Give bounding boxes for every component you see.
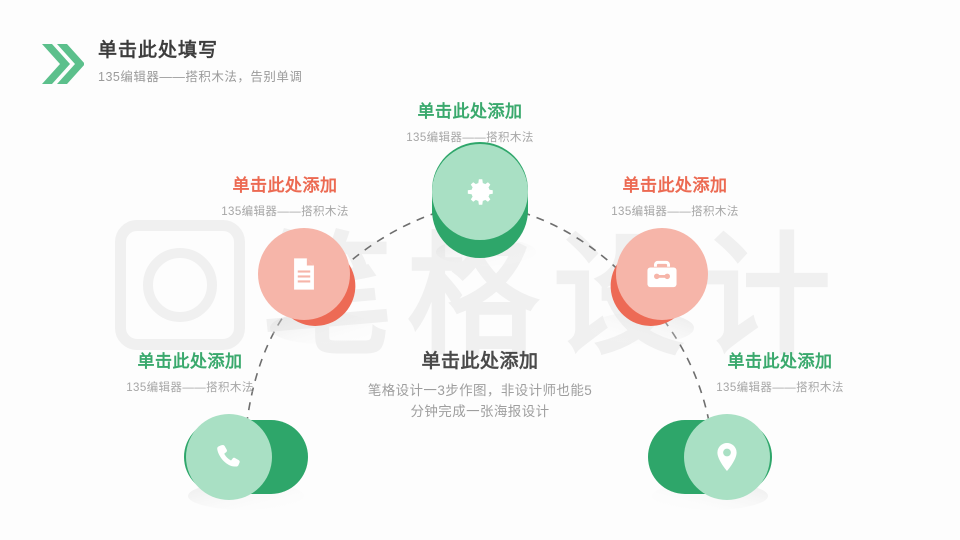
double-chevron-right-icon (40, 41, 84, 87)
label-subtitle: 135编辑器——搭积木法 (360, 128, 580, 148)
page-subtitle: 135编辑器——搭积木法，告别单调 (98, 66, 302, 88)
label-title: 单击此处添加 (690, 350, 870, 374)
label-title: 单击此处添加 (330, 350, 630, 374)
label-node-center-lower: 单击此处添加 笔格设计一3步作图，非设计师也能5 分钟完成一张海报设计 (330, 350, 630, 422)
label-subtitle: 135编辑器——搭积木法 (590, 202, 760, 222)
label-node-top-center: 单击此处添加 135编辑器——搭积木法 (360, 100, 580, 148)
label-node-left-lower: 单击此处添加 135编辑器——搭积木法 (100, 350, 280, 398)
label-subtitle-line1: 笔格设计一3步作图，非设计师也能5 (368, 383, 592, 398)
node-right-lower[interactable] (636, 408, 796, 512)
label-subtitle: 笔格设计一3步作图，非设计师也能5 分钟完成一张海报设计 (330, 380, 630, 422)
label-title: 单击此处添加 (200, 174, 370, 198)
label-subtitle-line2: 分钟完成一张海报设计 (411, 404, 550, 419)
watermark-badge-icon (115, 220, 245, 350)
label-subtitle: 135编辑器——搭积木法 (690, 378, 870, 398)
label-subtitle: 135编辑器——搭积木法 (100, 378, 280, 398)
slide-header: 单击此处填写 135编辑器——搭积木法，告别单调 (40, 38, 302, 88)
label-subtitle: 135编辑器——搭积木法 (200, 202, 370, 222)
label-title: 单击此处添加 (100, 350, 280, 374)
slide-canvas: 笔格设计 单击此处填写 135编辑器——搭积木法，告别单调 (0, 0, 960, 540)
label-node-right-upper: 单击此处添加 135编辑器——搭积木法 (590, 174, 760, 222)
label-node-right-lower: 单击此处添加 135编辑器——搭积木法 (690, 350, 870, 398)
label-title: 单击此处添加 (590, 174, 760, 198)
node-right-upper[interactable] (578, 222, 718, 352)
page-title: 单击此处填写 (98, 38, 302, 64)
node-top-center[interactable] (424, 142, 536, 270)
label-node-left-upper: 单击此处添加 135编辑器——搭积木法 (200, 174, 370, 222)
label-title: 单击此处添加 (360, 100, 580, 124)
node-left-lower[interactable] (172, 408, 332, 512)
node-left-upper[interactable] (248, 222, 388, 352)
